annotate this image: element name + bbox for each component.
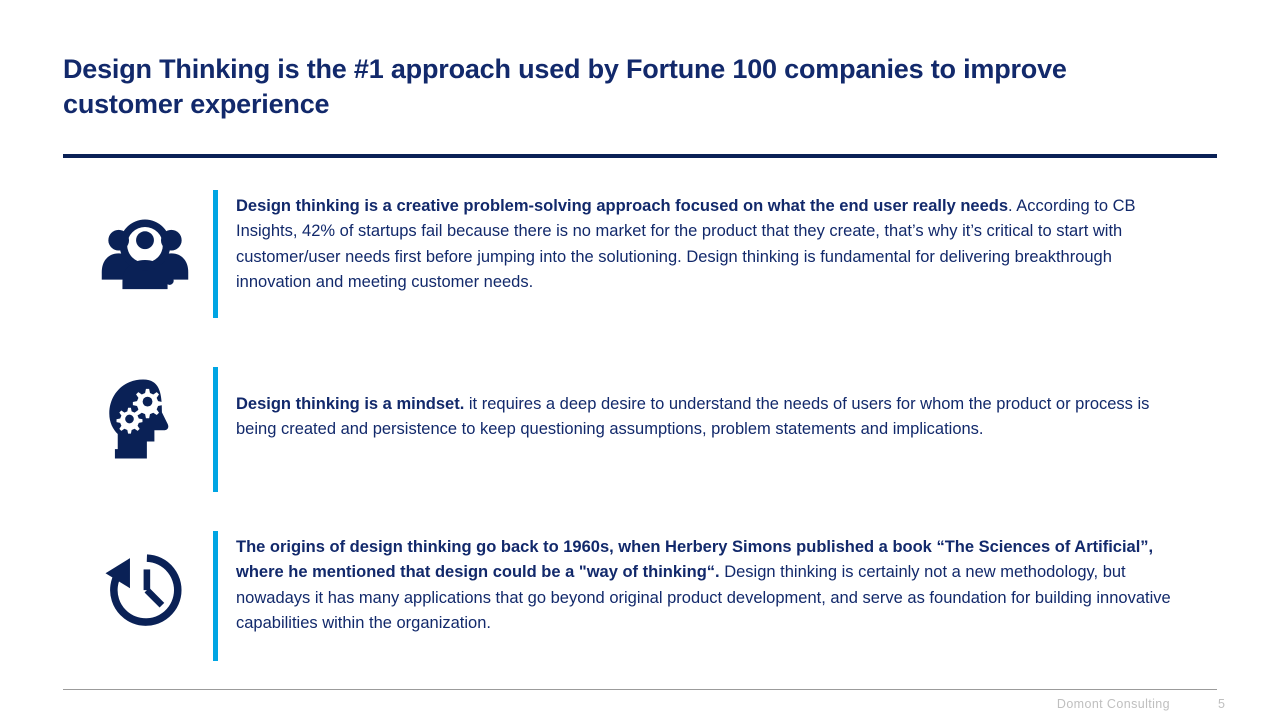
block-2-lead: Design thinking is a mindset. — [236, 395, 464, 413]
clock-history-icon — [98, 545, 192, 639]
block-1-text: Design thinking is a creative problem-so… — [236, 194, 1188, 296]
title-divider — [63, 154, 1217, 158]
page-title: Design Thinking is the #1 approach used … — [63, 52, 1183, 122]
block-2-text: Design thinking is a mindset. it require… — [236, 392, 1188, 443]
accent-bar-2 — [213, 367, 218, 492]
footer-divider — [63, 689, 1217, 690]
footer-page-number: 5 — [1218, 697, 1225, 711]
block-3-text: The origins of design thinking go back t… — [236, 535, 1188, 637]
accent-bar-3 — [213, 531, 218, 661]
footer-company-name: Domont Consulting — [1057, 697, 1170, 711]
people-search-icon — [98, 212, 192, 306]
block-1-lead: Design thinking is a creative problem-so… — [236, 197, 1008, 215]
head-gears-icon — [98, 372, 192, 466]
accent-bar-1 — [213, 190, 218, 318]
